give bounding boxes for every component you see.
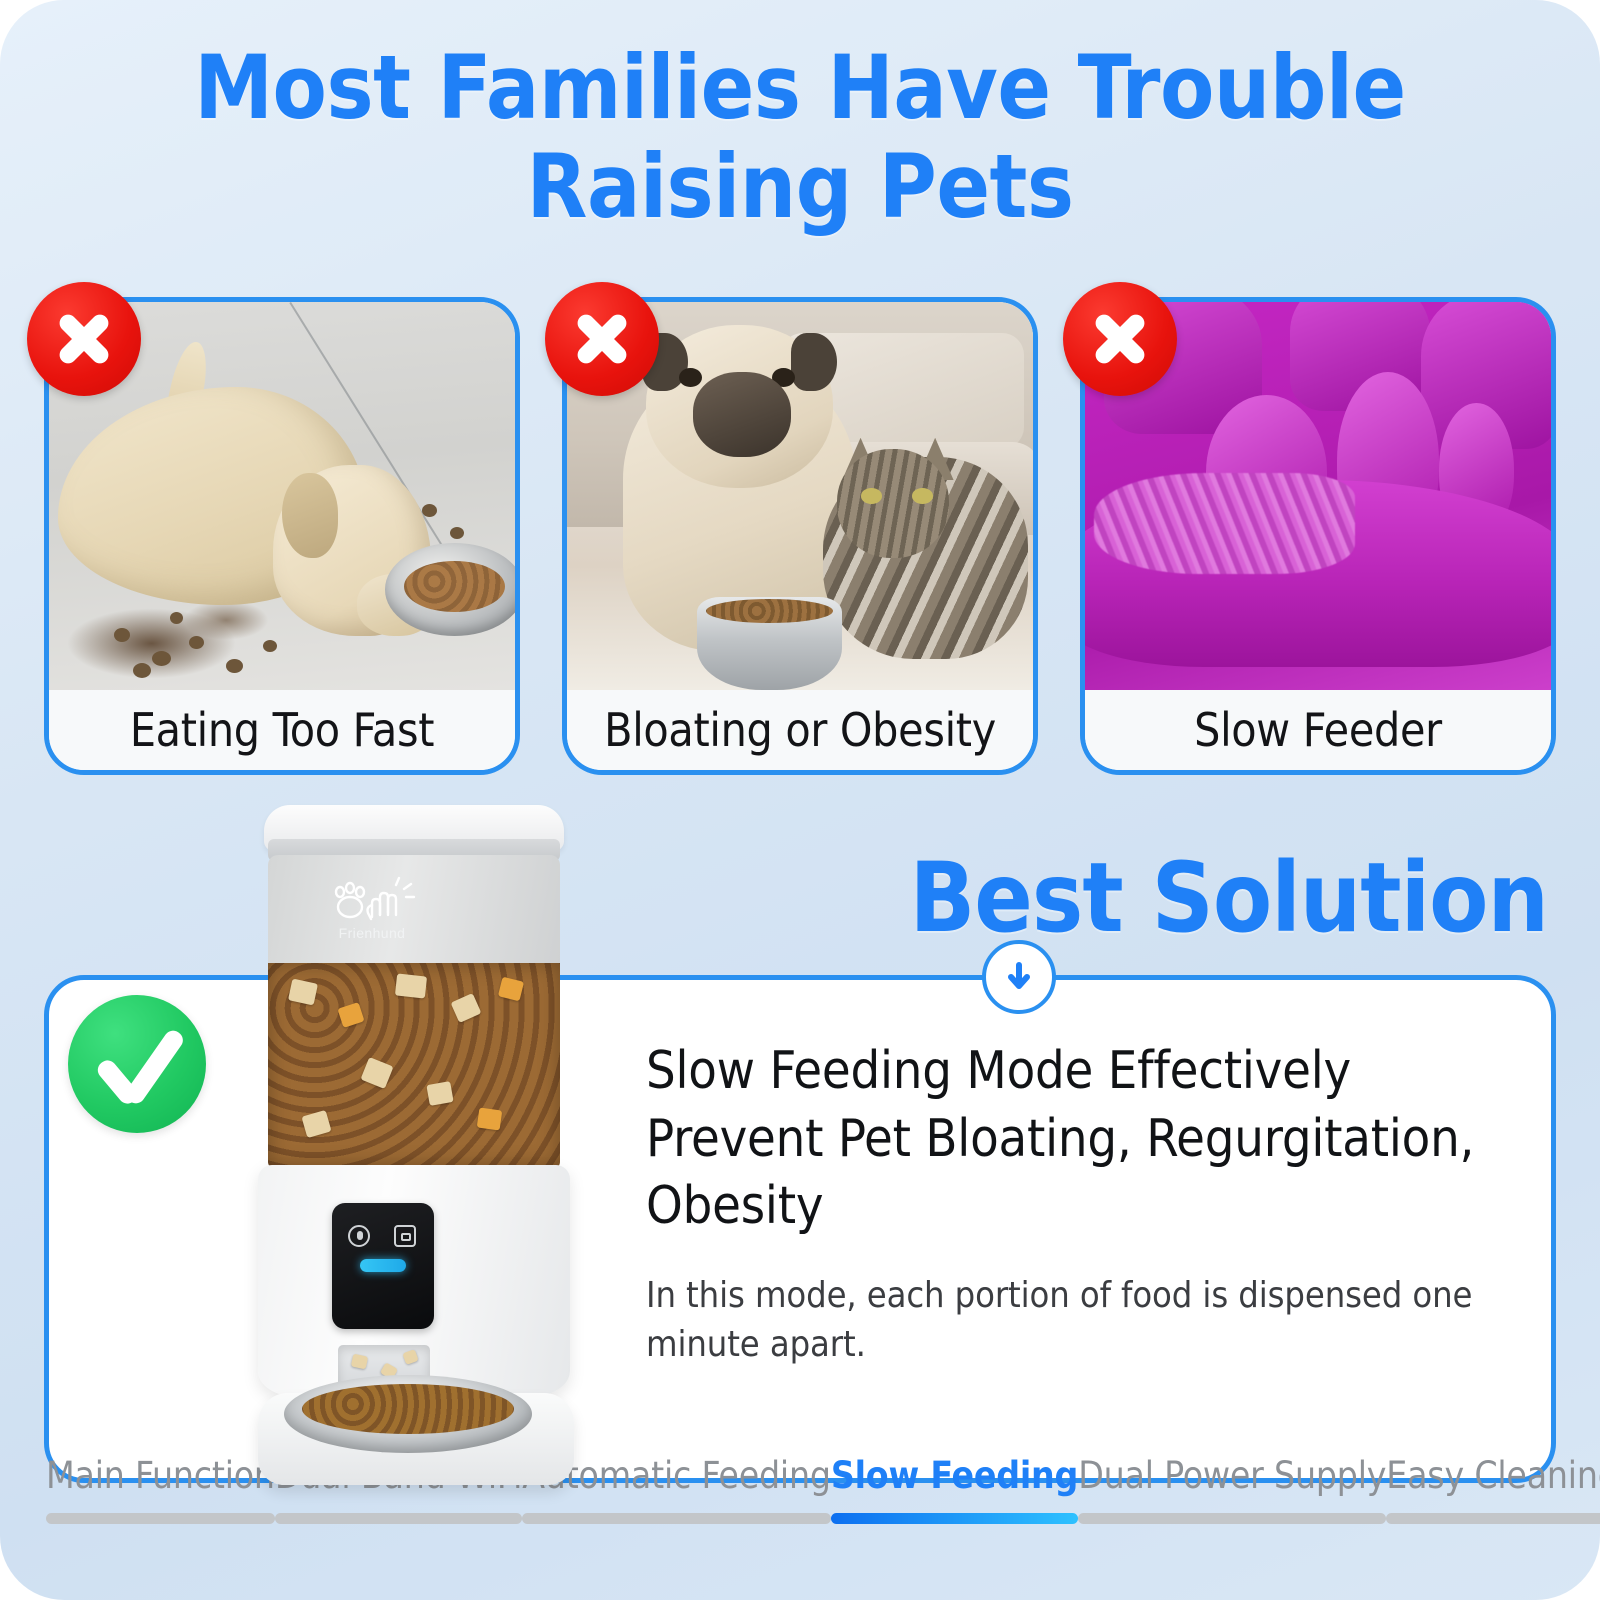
page-title: Most Families Have Trouble Raising Pets	[0, 38, 1600, 237]
dog-ear	[282, 473, 338, 558]
tab-easy-cleaning[interactable]: Easy Cleaning	[1386, 1454, 1600, 1524]
x-mark-icon	[545, 282, 659, 396]
camera-icon	[394, 1225, 416, 1247]
problem-card-label: Bloating or Obesity	[567, 690, 1033, 770]
x-mark-icon	[1063, 282, 1177, 396]
arrow-down-icon	[982, 940, 1056, 1014]
bowl-food	[302, 1384, 514, 1434]
spilled-kibble	[152, 651, 171, 666]
spilled-kibble	[170, 612, 183, 624]
dispensing-kibble	[402, 1349, 418, 1365]
spilled-kibble	[133, 663, 151, 678]
steel-food-bowl	[697, 597, 841, 690]
spilled-kibble	[422, 504, 437, 517]
pug-muzzle	[693, 372, 791, 457]
solution-heading: Slow Feeding Mode Effectively Prevent Pe…	[646, 1038, 1526, 1241]
kibble-treat	[477, 1107, 503, 1130]
kibble-treat	[426, 1081, 453, 1106]
spilled-kibble	[450, 527, 464, 539]
page-title-line-2: Raising Pets	[0, 137, 1600, 236]
brand-name: Frienhund	[312, 925, 432, 941]
tab-label: Easy Cleaning	[1386, 1454, 1600, 1497]
tab-underline	[831, 1513, 1078, 1524]
device-control-panel[interactable]	[332, 1203, 434, 1329]
kibble-treat	[395, 973, 427, 998]
best-solution-title: Best Solution	[909, 850, 1548, 946]
problem-card[interactable]: Slow Feeder	[1080, 297, 1556, 775]
microphone-icon	[348, 1225, 370, 1247]
spilled-kibble	[226, 659, 243, 673]
spilled-kibble	[189, 636, 204, 649]
solution-text-block: Slow Feeding Mode Effectively Prevent Pe…	[646, 1038, 1526, 1370]
kibble-treat	[451, 993, 482, 1023]
kibble-treat	[498, 977, 524, 1002]
tab-slow-feeding[interactable]: Slow Feeding	[831, 1454, 1078, 1524]
problem-card[interactable]: Eating Too Fast	[44, 297, 520, 775]
paw-and-hand-logo-icon	[312, 875, 432, 927]
dispensing-kibble	[351, 1354, 368, 1370]
status-led-bar	[360, 1259, 406, 1272]
problem-card[interactable]: Bloating or Obesity	[562, 297, 1038, 775]
tab-underline	[46, 1513, 275, 1524]
pet-feeder-device: Frienhund	[140, 805, 600, 1495]
problem-card-label: Slow Feeder	[1085, 690, 1551, 770]
kibble-treat	[360, 1057, 393, 1089]
kibble-treat	[301, 1110, 331, 1138]
problem-card-list: Eating Too Fast	[44, 297, 1556, 775]
x-mark-icon	[27, 282, 141, 396]
food-view-window	[268, 963, 560, 1168]
kibble-treat	[337, 1002, 364, 1028]
chewed-damage-area	[1094, 473, 1355, 574]
feeder-bowl	[284, 1375, 532, 1453]
spilled-kibble	[263, 640, 277, 652]
solution-body: In this mode, each portion of food is di…	[646, 1271, 1526, 1370]
tab-label: Slow Feeding	[831, 1454, 1078, 1497]
problem-card-label: Eating Too Fast	[49, 690, 515, 770]
tab-underline	[522, 1513, 831, 1524]
check-mark-icon	[68, 995, 206, 1133]
steel-food-bowl	[385, 543, 515, 636]
tab-underline	[1078, 1513, 1386, 1524]
tab-label: Dual Power Supply	[1078, 1454, 1386, 1497]
tab-dual-power-supply[interactable]: Dual Power Supply	[1078, 1454, 1386, 1524]
infographic-page: Most Families Have Trouble Raising Pets	[0, 0, 1600, 1600]
cat-head	[837, 449, 949, 558]
tab-underline	[275, 1513, 522, 1524]
spilled-kibble	[114, 628, 130, 642]
tab-underline	[1386, 1513, 1600, 1524]
brand-logo: Frienhund	[312, 875, 432, 941]
cat-eye	[912, 488, 933, 504]
page-title-line-1: Most Families Have Trouble	[194, 36, 1406, 139]
cat-eye	[861, 488, 882, 504]
kibble-treat	[288, 979, 318, 1006]
